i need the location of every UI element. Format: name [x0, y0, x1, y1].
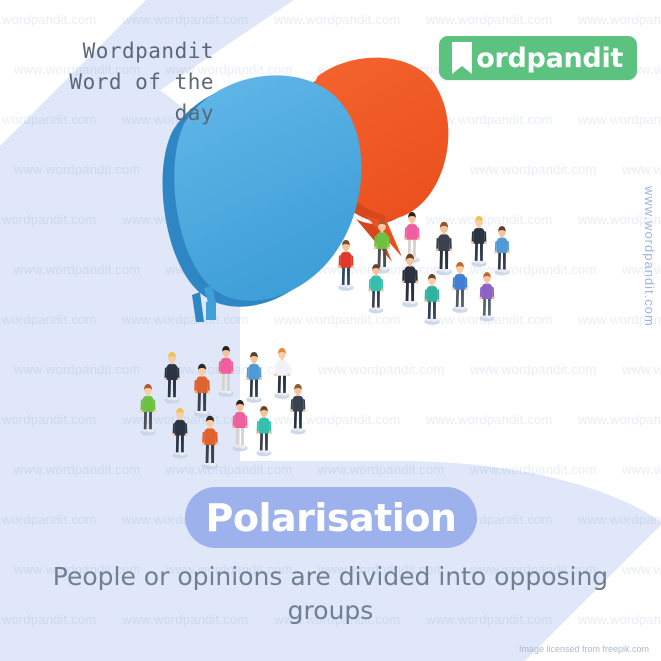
- person-figure: [290, 384, 306, 434]
- watermark-vertical: www.wordpandit.com: [642, 186, 657, 327]
- person-figure: [479, 272, 494, 321]
- bookmark-icon: [449, 41, 475, 75]
- person-figure: [246, 352, 262, 403]
- crowd-group-left: [118, 316, 318, 486]
- crowd-group-right: [330, 186, 520, 336]
- word-banner: Polarisation: [185, 487, 477, 548]
- word-of-the-day-card: www.wordpandit.comwww.wordpandit.comwww.…: [0, 0, 661, 661]
- person-figure: [424, 274, 440, 325]
- logo-text: ordpandit: [476, 45, 623, 72]
- person-figure: [164, 352, 180, 403]
- person-figure: [436, 222, 453, 276]
- person-figure: [274, 348, 290, 399]
- person-figure: [140, 384, 156, 435]
- person-figure: [256, 406, 272, 456]
- person-figure: [218, 346, 234, 397]
- word-of-the-day-term: Polarisation: [205, 499, 456, 537]
- person-figure: [494, 226, 509, 275]
- person-figure: [194, 364, 211, 418]
- page-title: Wordpandit Word of the day: [14, 36, 214, 129]
- image-attribution: Image licensed from freepik.com: [519, 644, 649, 654]
- wordpandit-logo[interactable]: ordpandit: [439, 36, 637, 80]
- person-figure: [202, 416, 219, 470]
- person-figure: [338, 240, 354, 291]
- person-figure: [452, 262, 468, 313]
- word-definition: People or opinions are divided into oppo…: [50, 560, 611, 628]
- person-figure: [232, 400, 248, 451]
- person-figure: [471, 216, 487, 267]
- person-figure: [172, 408, 188, 458]
